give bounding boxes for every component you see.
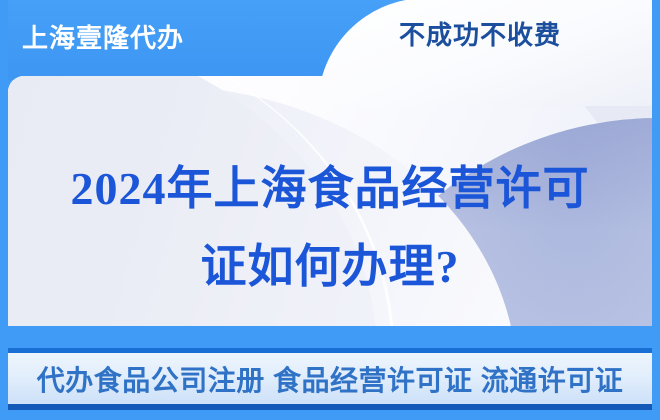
slogan-text: 不成功不收费 [330,18,630,52]
right-blue-rail [652,0,660,420]
poster-root: 上海壹隆代办 不成功不收费 2024年上海食品经营许可 证如何办理? 代办食品公… [0,0,660,420]
brand-name: 上海壹隆代办 [22,21,184,55]
page-title-line-2: 证如何办理? [0,228,660,306]
page-title: 2024年上海食品经营许可 证如何办理? [0,150,660,306]
bottom-blue-rail [0,416,660,420]
page-title-line-1: 2024年上海食品经营许可 [0,150,660,228]
keyword-bar: 代办食品公司注册 食品经营许可证 流通许可证 [8,348,652,410]
keyword-bar-text: 代办食品公司注册 食品经营许可证 流通许可证 [37,359,624,399]
decorative-top-swoosh [318,0,660,106]
left-blue-rail [0,0,8,420]
